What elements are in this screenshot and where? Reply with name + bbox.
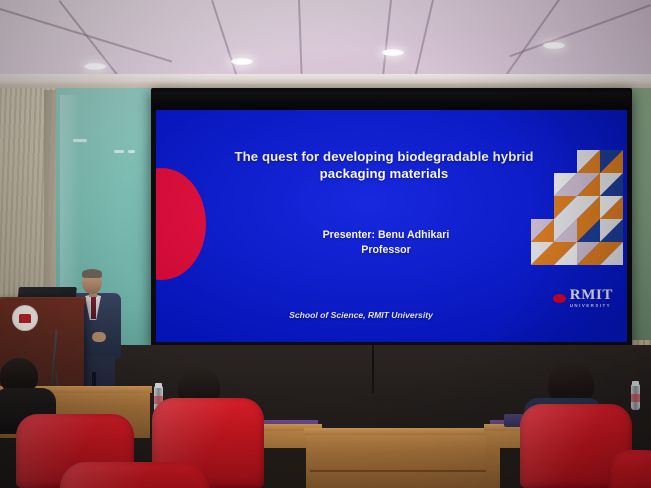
presentation-photo-scene: The quest for developing biodegradable h… (0, 0, 651, 488)
wall-light-reflection (73, 139, 87, 142)
speaker-tie (91, 297, 96, 319)
chair-highlight (60, 462, 210, 488)
presenter-role: Professor (251, 243, 521, 258)
ceiling-light (543, 42, 565, 49)
triangle-tile (577, 242, 600, 265)
slide-footer: School of Science, RMIT University (236, 310, 486, 320)
desk-panel-line (310, 470, 486, 472)
triangle-tile (577, 150, 600, 173)
triangle-tile (577, 196, 600, 219)
ceiling-light (382, 49, 404, 56)
audience-chair[interactable] (608, 450, 651, 488)
triangle-tile (531, 219, 554, 242)
triangle-tile (531, 242, 554, 265)
triangle-tile (554, 219, 577, 242)
rmit-name: RMIT (570, 288, 613, 303)
bottle-cap (155, 383, 162, 388)
rmit-dot-icon (553, 294, 566, 303)
rmit-subtitle: UNIVERSITY (570, 304, 613, 308)
ceiling-light (84, 63, 106, 70)
triangle-tile (600, 196, 623, 219)
podium-crest-icon (12, 305, 38, 331)
crest-inner (19, 314, 31, 323)
triangle-tile (577, 219, 600, 242)
screen-top-shadow (153, 92, 630, 110)
bottle-cap (632, 381, 639, 386)
bottle-label (631, 394, 640, 402)
slide-red-ellipse (156, 168, 206, 280)
speaker-hands (92, 332, 106, 342)
triangle-tile (554, 242, 577, 265)
slide-presenter-block: Presenter: Benu Adhikari Professor (251, 228, 521, 258)
ceiling-light (231, 58, 253, 65)
desk-edge-front (304, 428, 492, 435)
triangle-tile (600, 150, 623, 173)
wall-seam (372, 345, 374, 393)
presentation-slide: The quest for developing biodegradable h… (156, 110, 627, 342)
rmit-logo: RMIT UNIVERSITY (553, 288, 613, 308)
triangle-tile (600, 242, 623, 265)
presenter-name: Presenter: Benu Adhikari (251, 228, 521, 243)
rmit-wordmark: RMIT UNIVERSITY (570, 288, 613, 308)
slide-title: The quest for developing biodegradable h… (204, 148, 564, 183)
triangle-tile (600, 173, 623, 196)
triangle-tile (554, 196, 577, 219)
wall-light-reflection (114, 150, 124, 153)
triangle-tile (577, 173, 600, 196)
podium-front-desk (306, 432, 490, 488)
speaker-hair (82, 269, 102, 278)
wall-light-reflection (128, 150, 135, 153)
triangle-tile (600, 219, 623, 242)
